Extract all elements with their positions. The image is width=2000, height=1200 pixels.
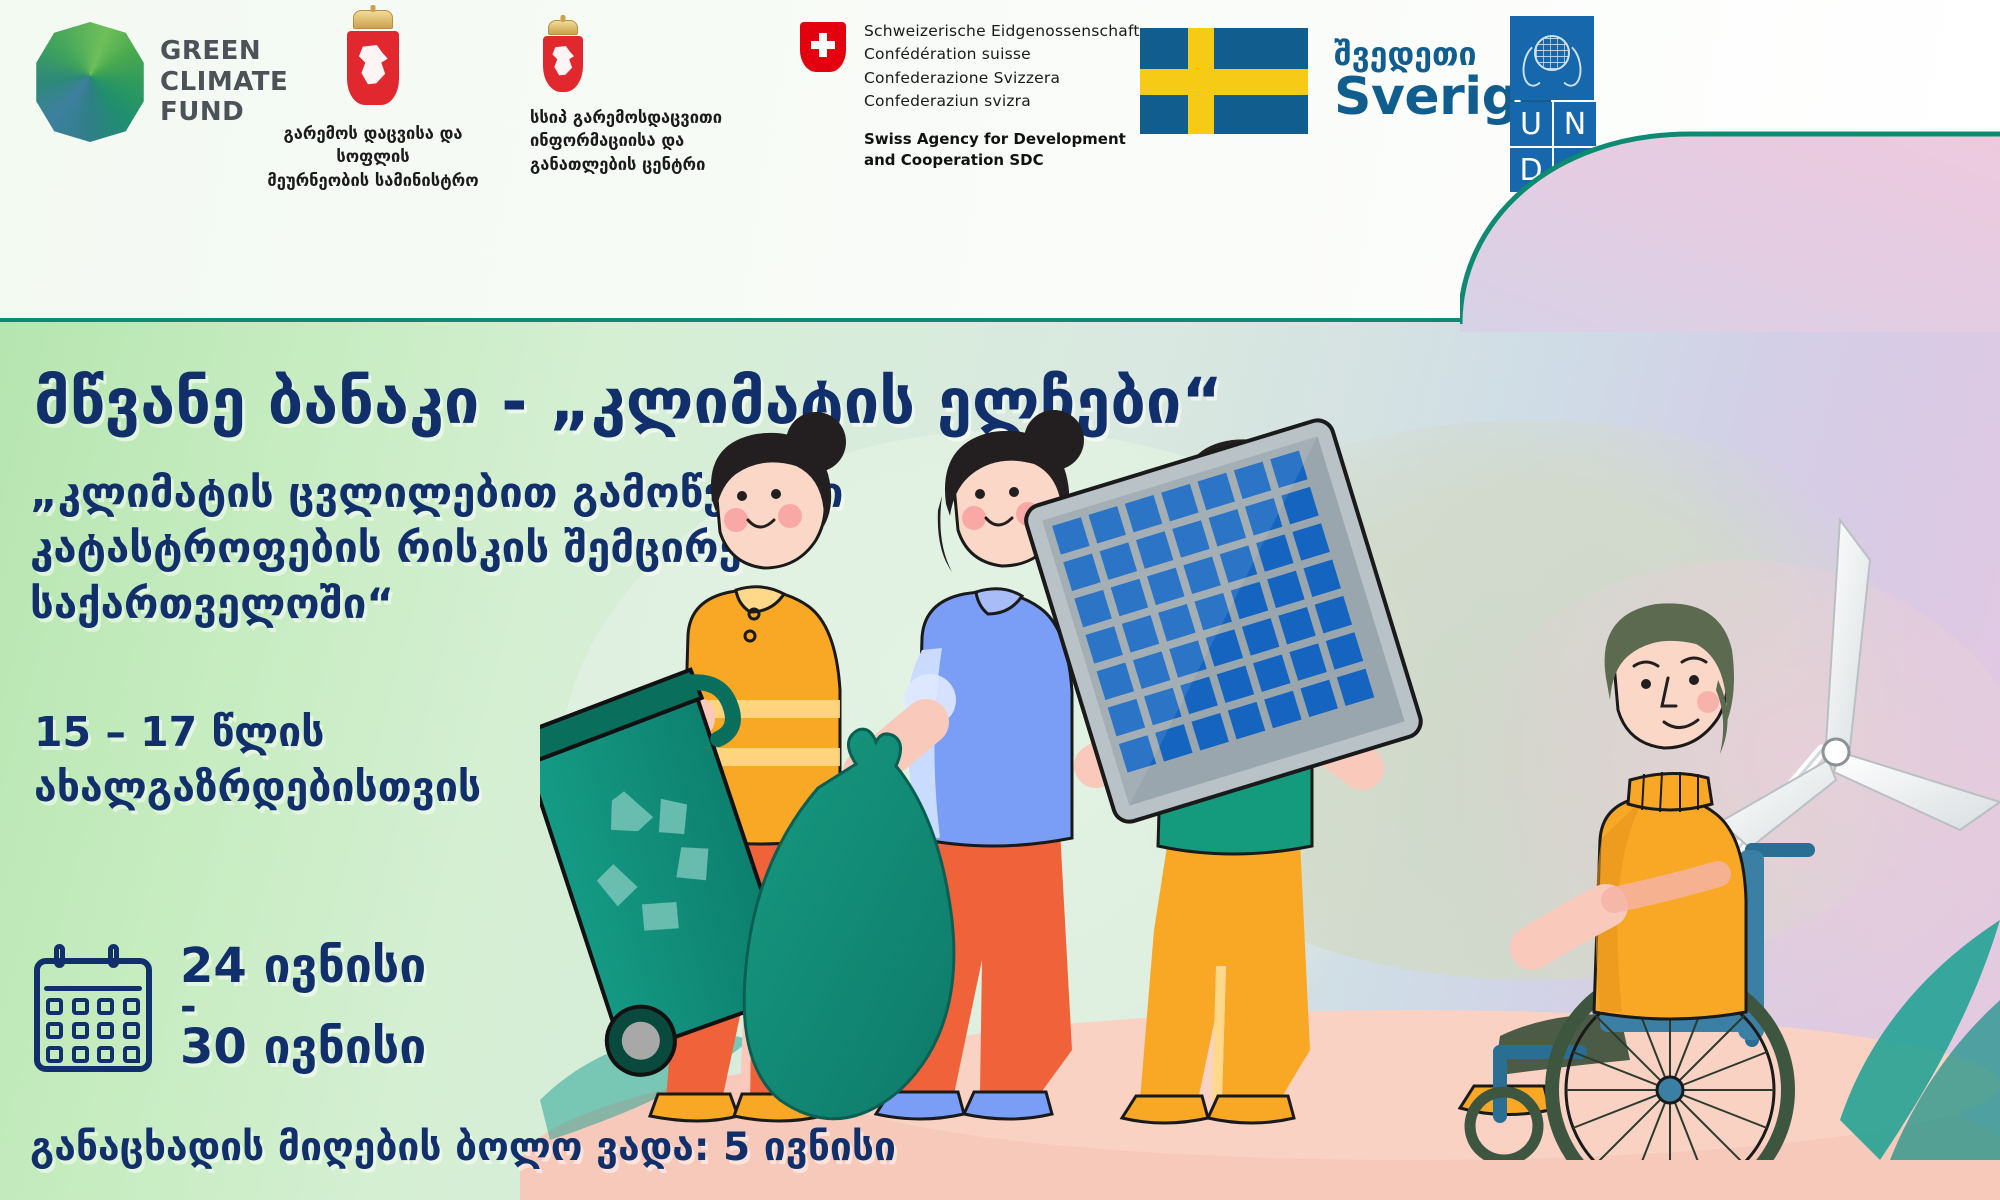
calendar-day xyxy=(72,998,89,1015)
green-climate-fund-icon xyxy=(34,22,146,142)
illustration-svg xyxy=(540,400,2000,1160)
education-centre-label: სსიპ გარემოსდაცვითი ინფორმაციისა და განა… xyxy=(530,106,748,176)
date-start: 24 ივნისი xyxy=(180,942,426,991)
illustration xyxy=(540,400,2000,1160)
promotional-banner: GREEN CLIMATE FUND გარემოს დაცვისა და სო… xyxy=(0,0,2000,1200)
laurel-right-icon xyxy=(1551,41,1586,89)
shield-icon xyxy=(347,31,399,105)
calendar-day xyxy=(46,1022,63,1039)
header-divider xyxy=(0,318,1500,322)
sweden-flag-icon xyxy=(1140,28,1308,134)
ministry-environment-label: გარემოს დაცვისა და სოფლის მეურნეობის სამ… xyxy=(258,122,488,192)
saint-george-rider-icon xyxy=(551,46,575,76)
logo-ministry-environment: გარემოს დაცვისა და სოფლის მეურნეობის სამ… xyxy=(258,10,488,192)
calendar-day xyxy=(123,1046,140,1063)
swiss-line-fr: Confédération suisse xyxy=(864,43,1140,66)
calendar-day xyxy=(72,1022,89,1039)
logo-swiss-confederation: Schweizerische Eidgenossenschaft Confédé… xyxy=(800,20,1140,172)
calendar-day xyxy=(123,1022,140,1039)
saint-george-rider-icon xyxy=(357,45,389,85)
header-curve xyxy=(1460,92,2000,332)
logo-education-centre: სსიპ გარემოსდაცვითი ინფორმაციისა და განა… xyxy=(530,20,748,176)
calendar-day xyxy=(46,1046,63,1063)
curve-svg xyxy=(1460,92,2000,332)
swiss-line-it: Confederazione Svizzera xyxy=(864,67,1140,90)
crown-icon xyxy=(548,20,578,35)
calendar-day xyxy=(46,998,63,1015)
un-emblem-icon xyxy=(1510,16,1594,100)
crown-icon xyxy=(353,10,393,29)
calendar-day xyxy=(123,998,140,1015)
figure-solar-panel-carrier xyxy=(1022,416,1425,1123)
event-dates: 24 ივნისი - 30 ივნისი xyxy=(30,940,426,1074)
calendar-day-grid xyxy=(46,998,142,1063)
swiss-sdc-label: Swiss Agency for Development and Coopera… xyxy=(864,129,1140,172)
calendar-day xyxy=(97,1022,114,1039)
swiss-confederation-names: Schweizerische Eidgenossenschaft Confédé… xyxy=(864,20,1140,113)
swiss-line-rm: Confederaziun svizra xyxy=(864,90,1140,113)
swiss-line-de: Schweizerische Eidgenossenschaft xyxy=(864,20,1140,43)
georgia-coat-of-arms-icon xyxy=(330,10,416,112)
shield-icon xyxy=(543,36,583,92)
calendar-day xyxy=(97,998,114,1015)
calendar-icon xyxy=(30,940,156,1074)
logo-green-climate-fund: GREEN CLIMATE FUND xyxy=(34,22,288,142)
georgia-coat-of-arms-icon xyxy=(534,20,592,96)
swiss-cross-icon xyxy=(800,22,846,72)
calendar-header-bar xyxy=(44,986,142,991)
calendar-day xyxy=(72,1046,89,1063)
date-end: 30 ივნისი xyxy=(180,1023,426,1072)
calendar-day xyxy=(97,1046,114,1063)
date-range: 24 ივნისი - 30 ივნისი xyxy=(180,942,426,1072)
